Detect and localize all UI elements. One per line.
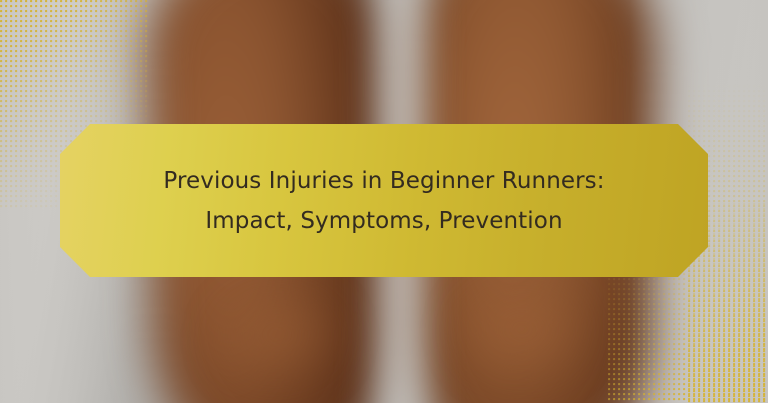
- title-line-2: Impact, Symptoms, Prevention: [205, 201, 562, 241]
- title-line-1: Previous Injuries in Beginner Runners:: [163, 161, 604, 201]
- title-banner: Previous Injuries in Beginner Runners: I…: [60, 124, 708, 277]
- featured-image-canvas: Previous Injuries in Beginner Runners: I…: [0, 0, 768, 403]
